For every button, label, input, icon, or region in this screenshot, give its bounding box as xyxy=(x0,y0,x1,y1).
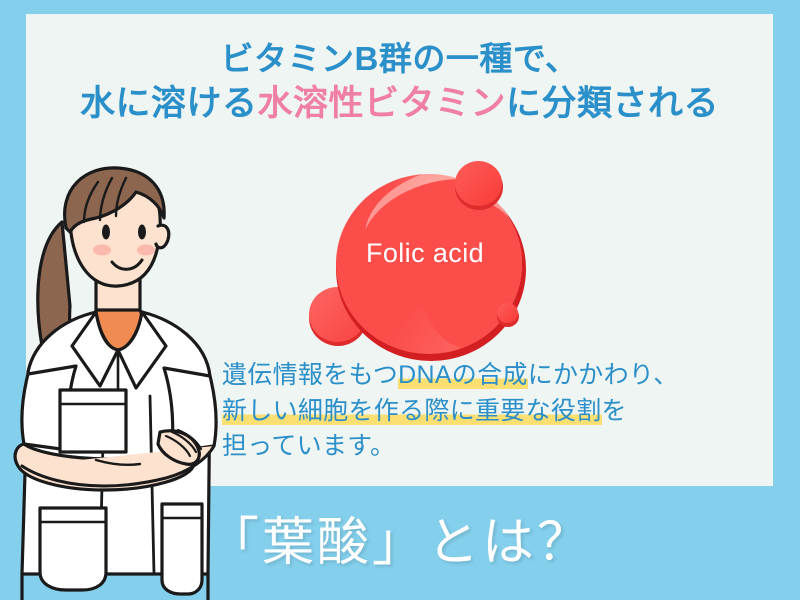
headline-line-2-highlight-pink: 水溶性ビタミン xyxy=(257,84,506,123)
paragraph-line-2-part-b: を xyxy=(602,397,627,425)
headline-line-1: ビタミンB群の一種で、 xyxy=(26,38,773,81)
ear xyxy=(156,225,169,248)
cheek-left xyxy=(93,245,111,256)
eye-right xyxy=(138,225,146,240)
paragraph-line-2: 新しい細胞を作る際に重要な役割を xyxy=(222,394,762,430)
bubble-small-top-right xyxy=(455,161,502,206)
eye-left xyxy=(102,225,110,240)
folic-acid-label: Folic acid xyxy=(300,238,550,269)
paragraph-line-1-part-c: にかかわり、 xyxy=(528,361,679,389)
headline-line-2: 水に溶ける水溶性ビタミンに分類される xyxy=(26,81,773,127)
folic-acid-bubble-graphic: Folic acid xyxy=(300,160,550,360)
paragraph-line-1: 遺伝情報をもつDNAの合成にかかわり、 xyxy=(222,358,762,394)
doctor-illustration xyxy=(0,160,250,600)
headline-line-2-part-1: 水に溶ける xyxy=(80,84,258,123)
bubble-tiny-bottom-right xyxy=(497,303,518,323)
cheek-right xyxy=(137,245,155,256)
paragraph-line-2-highlight: 新しい細胞を作る際に重要な役割 xyxy=(222,397,602,425)
paragraph-line-3: 担っています。 xyxy=(222,429,762,465)
bubble-gloss-mask-right xyxy=(418,200,522,350)
headline-line-2-part-3: に分類される xyxy=(506,84,719,123)
chest-pocket xyxy=(60,390,126,452)
headline: ビタミンB群の一種で、 水に溶ける水溶性ビタミンに分類される xyxy=(26,38,773,126)
paragraph-line-1-highlight: DNAの合成 xyxy=(398,361,528,389)
pocket-left xyxy=(40,508,106,590)
body-paragraph: 遺伝情報をもつDNAの合成にかかわり、 新しい細胞を作る際に重要な役割を 担って… xyxy=(222,358,762,465)
